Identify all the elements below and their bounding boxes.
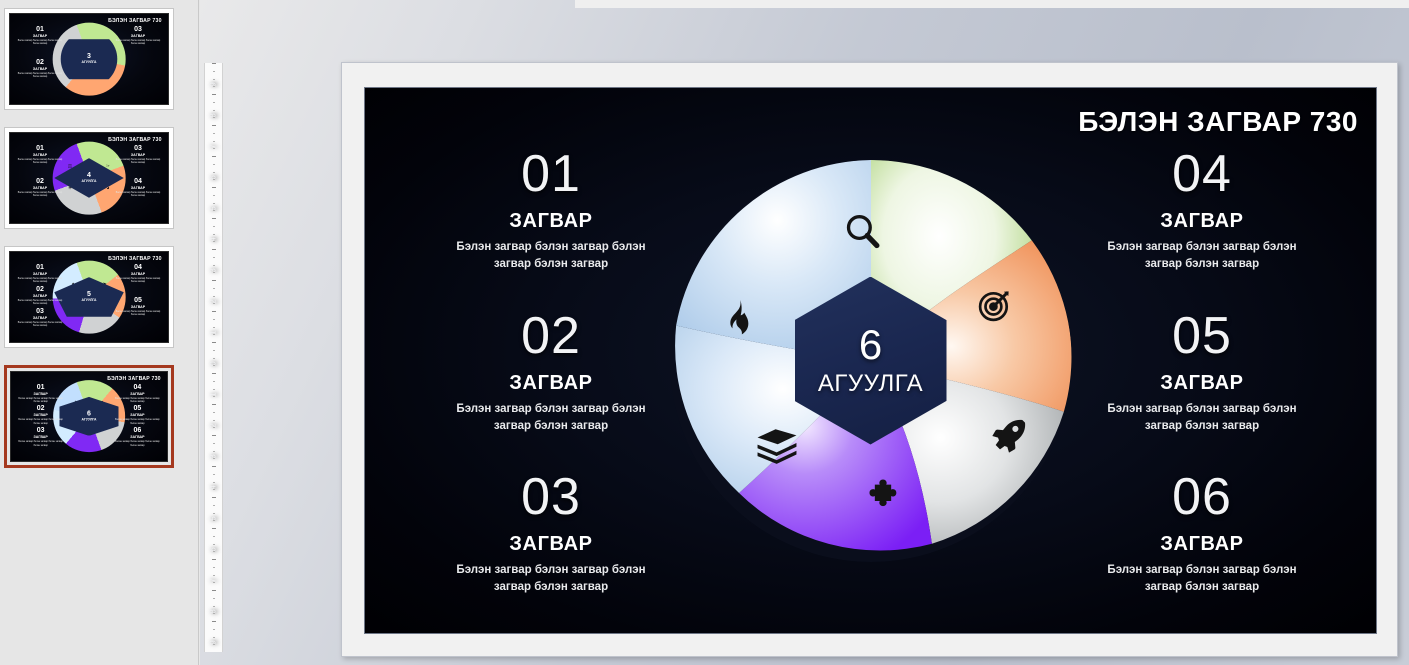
thumbnail-center-number: 3 (87, 53, 91, 60)
ruler-minor-tick (213, 451, 215, 452)
thumbnail-item-number: 01 (15, 145, 66, 152)
ruler-minor-tick (213, 536, 215, 537)
ruler-major-tick (212, 590, 216, 591)
ruler-minor-tick (213, 164, 215, 165)
thumbnail-item-number: 04 (113, 178, 164, 185)
ruler-minor-tick (213, 427, 215, 428)
item-body: Бэлэн загвар бэлэн загвар бэлэн загвар б… (423, 562, 679, 595)
thumbnail-item-label: ЗАГВАР (112, 435, 162, 439)
ruler-tick-label: 5 (205, 197, 222, 215)
slide-item-06[interactable]: 06 ЗАГВАР Бэлэн загвар бэлэн загвар бэлэ… (1074, 471, 1330, 595)
thumbnail-item-number: 03 (15, 308, 66, 315)
thumbnail-item-body: Бэлэн загвар бэлэн загвар бэлэн загвар б… (15, 321, 66, 327)
target-icon (976, 286, 1014, 324)
thumbnail-item: 03ЗАГВАРБэлэн загвар бэлэн загвар бэлэн … (16, 427, 66, 446)
thumbnail-item-label: ЗАГВАР (15, 294, 66, 298)
ruler-tick-label: 7 (205, 135, 222, 153)
ruler-minor-tick (213, 544, 215, 545)
ruler-tick-label: 2 (205, 290, 222, 308)
thumbnail-item-number: 01 (15, 26, 66, 33)
slide-thumbnail-panel[interactable]: БЭЛЭН ЗАГВАР 730➤☲♦3АГУУЛГА01ЗАГВАРБэлэн… (0, 0, 199, 665)
ruler-tick-label: 6 (205, 538, 222, 556)
ruler-minor-tick (213, 179, 215, 180)
books-icon (754, 426, 800, 466)
thumbnail-item: 04ЗАГВАРБэлэн загвар бэлэн загвар бэлэн … (113, 178, 164, 197)
ruler-minor-tick (213, 489, 215, 490)
ruler-minor-tick (213, 389, 215, 390)
thumbnail-item: 05ЗАГВАРБэлэн загвар бэлэн загвар бэлэн … (112, 405, 162, 424)
thumbnail-center-label: АГУУЛГА (82, 418, 97, 422)
ruler-tick-label: 2 (205, 414, 222, 432)
ruler-minor-tick (213, 412, 215, 413)
ruler-major-tick (212, 342, 216, 343)
thumbnail-title: БЭЛЭН ЗАГВАР 730 (108, 137, 162, 143)
thumbnail-item-label: ЗАГВАР (15, 272, 66, 276)
ruler-minor-tick (213, 505, 215, 506)
ruler-tick-label: 4 (205, 476, 222, 494)
thumbnail-item: 02ЗАГВАРБэлэн загвар бэлэн загвар бэлэн … (16, 405, 66, 424)
ruler-minor-tick (213, 319, 215, 320)
ruler-minor-tick (213, 637, 215, 638)
ruler-minor-tick (213, 71, 215, 72)
thumbnail-canvas: БЭЛЭН ЗАГВАР 730➤☲♦3АГУУЛГА01ЗАГВАРБэлэн… (9, 13, 169, 105)
item-body-line1: Бэлэн загвар бэлэн загвар бэлэн (1107, 241, 1296, 253)
item-number: 01 (423, 148, 679, 200)
ruler-major-tick (212, 311, 216, 312)
ruler-tick-label: 3 (205, 259, 222, 277)
thumbnail-item: 01ЗАГВАРБэлэн загвар бэлэн загвар бэлэн … (15, 26, 66, 45)
ruler-major-tick (212, 559, 216, 560)
ruler-minor-tick (213, 133, 215, 134)
ruler-minor-tick (213, 79, 215, 80)
thumbnail-item: 01ЗАГВАРБэлэн загвар бэлэн загвар бэлэн … (15, 145, 66, 164)
thumbnail-item: 03ЗАГВАРБэлэн загвар бэлэн загвар бэлэн … (15, 308, 66, 327)
ruler-minor-tick (213, 210, 215, 211)
slide-item-01[interactable]: 01 ЗАГВАР Бэлэн загвар бэлэн загвар бэлэ… (423, 148, 679, 272)
rocket-icon (988, 416, 1028, 456)
item-label: ЗАГВАР (423, 372, 679, 395)
item-label: ЗАГВАР (1074, 372, 1330, 395)
slide-thumbnail-4[interactable]: БЭЛЭН ЗАГВАР 730⌕◎➤✸☲♦6АГУУЛГА01ЗАГВАРБэ… (4, 365, 174, 468)
item-body: Бэлэн загвар бэлэн загвар бэлэн загвар б… (423, 239, 679, 272)
thumbnail-item-body: Бэлэн загвар бэлэн загвар бэлэн загвар б… (113, 39, 164, 45)
item-label: ЗАГВАР (1074, 210, 1330, 233)
thumbnail-item-body: Бэлэн загвар бэлэн загвар бэлэн загвар б… (112, 418, 162, 424)
thumbnail-item-number: 03 (113, 26, 164, 33)
ruler-tick-label: 9 (205, 73, 222, 91)
ruler-major-tick (212, 466, 216, 467)
flame-icon (718, 298, 754, 338)
thumbnail-item: 05ЗАГВАРБэлэн загвар бэлэн загвар бэлэн … (113, 297, 164, 316)
thumbnail-item-label: ЗАГВАР (15, 186, 66, 190)
item-body-line1: Бэлэн загвар бэлэн загвар бэлэн (1107, 403, 1296, 415)
ruler-minor-tick (213, 203, 215, 204)
thumbnail-item: 01ЗАГВАРБэлэн загвар бэлэн загвар бэлэн … (15, 264, 66, 283)
thumbnail-item-label: ЗАГВАР (15, 153, 66, 157)
ruler-minor-tick (213, 86, 215, 87)
ruler-minor-tick (213, 265, 215, 266)
ruler-tick-label: 1 (205, 383, 222, 401)
thumbnail-item-number: 04 (113, 264, 164, 271)
thumbnail-item-number: 05 (112, 405, 162, 412)
ruler-minor-tick (213, 582, 215, 583)
thumbnail-canvas: БЭЛЭН ЗАГВАР 730➤◎⌕☲♦5АГУУЛГА01ЗАГВАРБэл… (9, 251, 169, 343)
thumbnail-item: 02ЗАГВАРБэлэн загвар бэлэн загвар бэлэн … (15, 178, 66, 197)
ruler-minor-tick (213, 613, 215, 614)
ruler-minor-tick (213, 334, 215, 335)
ruler-minor-tick (213, 520, 215, 521)
thumbnail-title: БЭЛЭН ЗАГВАР 730 (108, 256, 162, 262)
ruler-minor-tick (213, 629, 215, 630)
vertical-ruler[interactable]: 9876543210123456789 (204, 63, 223, 652)
slide-item-04[interactable]: 04 ЗАГВАР Бэлэн загвар бэлэн загвар бэлэ… (1074, 148, 1330, 272)
slide-item-03[interactable]: 03 ЗАГВАР Бэлэн загвар бэлэн загвар бэлэ… (423, 471, 679, 595)
item-body-line1: Бэлэн загвар бэлэн загвар бэлэн (456, 403, 645, 415)
ruler-minor-tick (213, 396, 215, 397)
item-number: 03 (423, 471, 679, 523)
thumbnail-item-number: 01 (15, 264, 66, 271)
thumbnail-item-body: Бэлэн загвар бэлэн загвар бэлэн загвар б… (112, 440, 162, 446)
thumbnail-item-number: 05 (113, 297, 164, 304)
item-body-line2: загвар бэлэн загвар (494, 420, 608, 432)
slide-thumbnail-2[interactable]: БЭЛЭН ЗАГВАР 730☞◕☀⚖4АГУУЛГА01ЗАГВАРБэлэ… (4, 127, 174, 229)
thumbnail-center-label: АГУУЛГА (81, 179, 96, 183)
ruler-minor-tick (213, 234, 215, 235)
ruler-minor-tick (213, 606, 215, 607)
ruler-major-tick (212, 249, 216, 250)
thumbnail-center-number: 4 (87, 172, 91, 179)
item-body-line2: загвар бэлэн загвар (1145, 258, 1259, 270)
thumbnail-title: БЭЛЭН ЗАГВАР 730 (107, 376, 161, 382)
thumbnail-item-body: Бэлэн загвар бэлэн загвар бэлэн загвар б… (113, 310, 164, 316)
ruler-tick-label: 4 (205, 228, 222, 246)
current-slide[interactable]: БЭЛЭН ЗАГВАР 730 01 ЗАГВАР Бэлэн загвар … (364, 87, 1377, 634)
slide-thumbnail-3[interactable]: БЭЛЭН ЗАГВАР 730➤◎⌕☲♦5АГУУЛГА01ЗАГВАРБэл… (4, 246, 174, 348)
ruler-minor-tick (213, 567, 215, 568)
ruler-minor-tick (213, 350, 215, 351)
item-number: 06 (1074, 471, 1330, 523)
thumbnail-item-label: ЗАГВАР (113, 305, 164, 309)
ruler-minor-tick (213, 272, 215, 273)
thumbnail-item-label: ЗАГВАР (16, 392, 66, 396)
ruler-tick-label: 1 (205, 321, 222, 339)
ruler-minor-tick (213, 381, 215, 382)
slide-item-05[interactable]: 05 ЗАГВАР Бэлэн загвар бэлэн загвар бэлэ… (1074, 310, 1330, 434)
item-body: Бэлэн загвар бэлэн загвар бэлэн загвар б… (1074, 401, 1330, 434)
ruler-minor-tick (213, 110, 215, 111)
thumbnail-item: 02ЗАГВАРБэлэн загвар бэлэн загвар бэлэн … (15, 59, 66, 78)
ruler-minor-tick (213, 551, 215, 552)
thumbnail-item-body: Бэлэн загвар бэлэн загвар бэлэн загвар б… (15, 158, 66, 164)
item-label: ЗАГВАР (423, 533, 679, 556)
item-body-line1: Бэлэн загвар бэлэн загвар бэлэн (456, 564, 645, 576)
thumbnail-center-number: 6 (87, 411, 91, 418)
thumbnail-item-label: ЗАГВАР (16, 413, 66, 417)
thumbnail-item-label: ЗАГВАР (16, 435, 66, 439)
thumbnail-item-label: ЗАГВАР (113, 34, 164, 38)
ruler-minor-tick (213, 226, 215, 227)
ruler-major-tick (212, 156, 216, 157)
ruler-minor-tick (213, 102, 215, 103)
ruler-minor-tick (213, 148, 215, 149)
ruler-tick-label: 9 (205, 631, 222, 649)
thumbnail-item: 03ЗАГВАРБэлэн загвар бэлэн загвар бэлэн … (113, 145, 164, 164)
slide-title: БЭЛЭН ЗАГВАР 730 (1078, 106, 1358, 138)
ruler-minor-tick (213, 117, 215, 118)
center-label: АГУУЛГА (818, 370, 923, 398)
thumbnail-item-body: Бэлэн загвар бэлэн загвар бэлэн загвар б… (15, 191, 66, 197)
thumbnail-item-number: 02 (15, 59, 66, 66)
ruler-major-tick (212, 187, 216, 188)
ruler-minor-tick (213, 513, 215, 514)
ruler-tick-label: 5 (205, 507, 222, 525)
item-body-line2: загвар бэлэн загвар (494, 258, 608, 270)
item-number: 05 (1074, 310, 1330, 362)
item-number: 02 (423, 310, 679, 362)
ruler-major-tick (212, 280, 216, 281)
ruler-minor-tick (213, 296, 215, 297)
thumbnail-item-body: Бэлэн загвар бэлэн загвар бэлэн загвар б… (15, 72, 66, 78)
pinwheel-diagram[interactable]: 6 АГУУЛГА (668, 158, 1074, 564)
thumbnail-center-number: 5 (87, 291, 91, 298)
ruler-minor-tick (213, 598, 215, 599)
ruler-major-tick (212, 621, 216, 622)
ruler-major-tick (212, 404, 216, 405)
ruler-major-tick (212, 497, 216, 498)
thumbnail-canvas: БЭЛЭН ЗАГВАР 730⌕◎➤✸☲♦6АГУУЛГА01ЗАГВАРБэ… (10, 371, 168, 462)
center-number: 6 (859, 324, 882, 366)
thumbnail-item: 04ЗАГВАРБэлэн загвар бэлэн загвар бэлэн … (112, 384, 162, 403)
thumbnail-title: БЭЛЭН ЗАГВАР 730 (108, 18, 162, 24)
thumbnail-item-label: ЗАГВАР (113, 186, 164, 190)
ruler-minor-tick (213, 443, 215, 444)
ruler-major-tick (212, 528, 216, 529)
item-body: Бэлэн загвар бэлэн загвар бэлэн загвар б… (1074, 562, 1330, 595)
thumbnail-item: 03ЗАГВАРБэлэн загвар бэлэн загвар бэлэн … (113, 26, 164, 45)
slide-thumbnail-1[interactable]: БЭЛЭН ЗАГВАР 730➤☲♦3АГУУЛГА01ЗАГВАРБэлэн… (4, 8, 174, 110)
thumbnail-item: 04ЗАГВАРБэлэн загвар бэлэн загвар бэлэн … (113, 264, 164, 283)
search-icon (841, 210, 883, 252)
thumbnail-item-body: Бэлэн загвар бэлэн загвар бэлэн загвар б… (15, 39, 66, 45)
ruler-major-tick (212, 125, 216, 126)
ruler-minor-tick (213, 420, 215, 421)
ruler-major-tick (212, 63, 216, 64)
ruler-minor-tick (213, 458, 215, 459)
ruler-minor-tick (213, 141, 215, 142)
ruler-minor-tick (213, 241, 215, 242)
ruler-tick-label: 8 (205, 600, 222, 618)
thumbnail-item-body: Бэлэн загвар бэлэн загвар бэлэн загвар б… (15, 277, 66, 283)
ruler-tick-label: 0 (205, 352, 222, 370)
ruler-tick-label: 7 (205, 569, 222, 587)
ruler-tick-label: 3 (205, 445, 222, 463)
thumbnail-item-number: 03 (113, 145, 164, 152)
ruler-minor-tick (213, 327, 215, 328)
thumbnail-item-label: ЗАГВАР (15, 316, 66, 320)
thumbnail-item-body: Бэлэн загвар бэлэн загвар бэлэн загвар б… (113, 277, 164, 283)
ruler-minor-tick (213, 482, 215, 483)
thumbnail-item-body: Бэлэн загвар бэлэн загвар бэлэн загвар б… (16, 397, 66, 403)
item-body: Бэлэн загвар бэлэн загвар бэлэн загвар б… (1074, 239, 1330, 272)
thumbnail-item: 06ЗАГВАРБэлэн загвар бэлэн загвар бэлэн … (112, 427, 162, 446)
item-body-line2: загвар бэлэн загвар (1145, 420, 1259, 432)
ruler-minor-tick (213, 257, 215, 258)
thumbnail-item-label: ЗАГВАР (15, 67, 66, 71)
item-number: 04 (1074, 148, 1330, 200)
thumbnail-item-number: 01 (16, 384, 66, 391)
ruler-minor-tick (213, 358, 215, 359)
ruler-major-tick (212, 435, 216, 436)
thumbnail-item-label: ЗАГВАР (112, 392, 162, 396)
ruler-minor-tick (213, 195, 215, 196)
ruler-minor-tick (213, 172, 215, 173)
ruler-major-tick (212, 218, 216, 219)
ruler-tick-label: 8 (205, 104, 222, 122)
thumbnail-item-label: ЗАГВАР (15, 34, 66, 38)
thumbnail-item-number: 06 (112, 427, 162, 434)
ruler-minor-tick (213, 365, 215, 366)
thumbnail-item-body: Бэлэн загвар бэлэн загвар бэлэн загвар б… (112, 397, 162, 403)
thumbnail-item-body: Бэлэн загвар бэлэн загвар бэлэн загвар б… (16, 418, 66, 424)
thumbnail-item-number: 03 (16, 427, 66, 434)
thumbnail-item-body: Бэлэн загвар бэлэн загвар бэлэн загвар б… (113, 191, 164, 197)
slide-item-02[interactable]: 02 ЗАГВАР Бэлэн загвар бэлэн загвар бэлэ… (423, 310, 679, 434)
puzzle-icon (866, 476, 906, 516)
thumbnail-item-number: 02 (15, 178, 66, 185)
item-body-line2: загвар бэлэн загвар (494, 581, 608, 593)
thumbnail-center-label: АГУУЛГА (81, 298, 96, 302)
ruler-minor-tick (213, 288, 215, 289)
thumbnail-center-label: АГУУЛГА (81, 60, 96, 64)
thumbnail-item-number: 04 (112, 384, 162, 391)
thumbnail-item-number: 02 (15, 286, 66, 293)
ruler-major-tick (212, 94, 216, 95)
ruler-minor-tick (213, 575, 215, 576)
ruler-minor-tick (213, 644, 215, 645)
thumbnail-item-label: ЗАГВАР (113, 153, 164, 157)
ruler-minor-tick (213, 303, 215, 304)
item-body-line1: Бэлэн загвар бэлэн загвар бэлэн (456, 241, 645, 253)
item-body-line2: загвар бэлэн загвар (1145, 581, 1259, 593)
thumbnail-item: 02ЗАГВАРБэлэн загвар бэлэн загвар бэлэн … (15, 286, 66, 305)
thumbnail-item-body: Бэлэн загвар бэлэн загвар бэлэн загвар б… (15, 299, 66, 305)
item-label: ЗАГВАР (1074, 533, 1330, 556)
thumbnail-canvas: БЭЛЭН ЗАГВАР 730☞◕☀⚖4АГУУЛГА01ЗАГВАРБэлэ… (9, 132, 169, 224)
thumbnail-item: 01ЗАГВАРБэлэн загвар бэлэн загвар бэлэн … (16, 384, 66, 403)
ruler-minor-tick (213, 474, 215, 475)
workspace-top-band (575, 0, 1409, 8)
thumbnail-item-label: ЗАГВАР (112, 413, 162, 417)
thumbnail-item-label: ЗАГВАР (113, 272, 164, 276)
ruler-tick-label: 6 (205, 166, 222, 184)
item-body: Бэлэн загвар бэлэн загвар бэлэн загвар б… (423, 401, 679, 434)
slide-editing-frame[interactable]: БЭЛЭН ЗАГВАР 730 01 ЗАГВАР Бэлэн загвар … (341, 62, 1398, 657)
ruler-major-tick (212, 373, 216, 374)
item-label: ЗАГВАР (423, 210, 679, 233)
item-body-line1: Бэлэн загвар бэлэн загвар бэлэн (1107, 564, 1296, 576)
thumbnail-item-body: Бэлэн загвар бэлэн загвар бэлэн загвар б… (16, 440, 66, 446)
thumbnail-item-body: Бэлэн загвар бэлэн загвар бэлэн загвар б… (113, 158, 164, 164)
thumbnail-item-number: 02 (16, 405, 66, 412)
